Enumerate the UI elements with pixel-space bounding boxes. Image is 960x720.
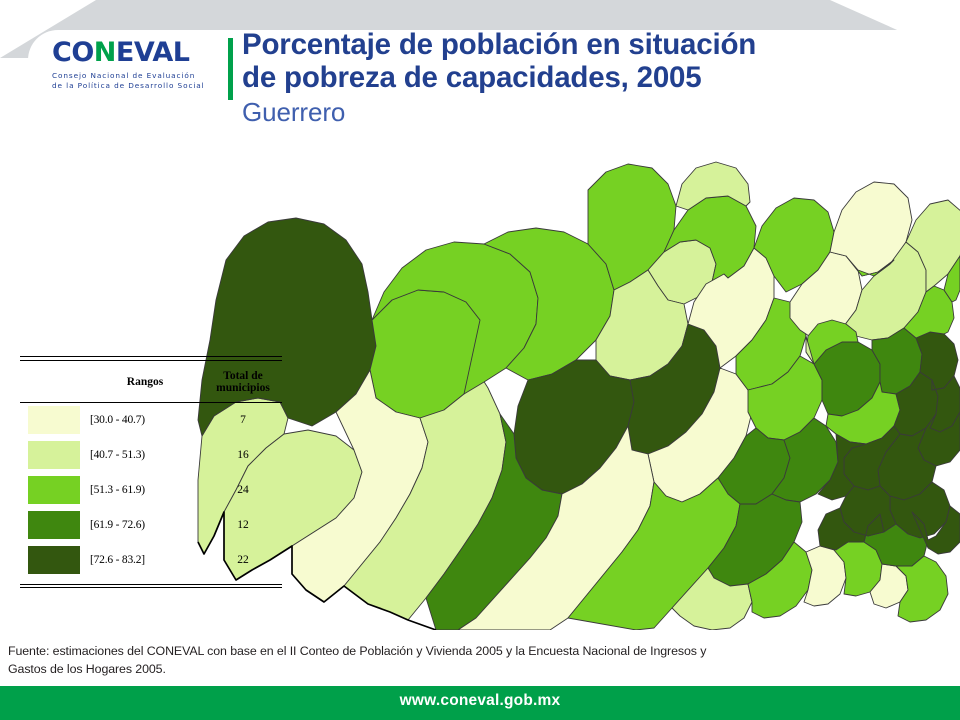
legend-table: Rangos Total de municipios [30.0 - 40.7)… <box>20 361 282 578</box>
legend-header-total-line2: municipios <box>204 382 282 395</box>
footer-url[interactable]: www.coneval.gob.mx <box>0 692 960 710</box>
title-line-2: de pobreza de capacidades, 2005 <box>242 61 942 94</box>
source-line-1: Fuente: estimaciones del CONEVAL con bas… <box>8 642 952 660</box>
legend-color-swatch <box>28 546 80 574</box>
legend-color-swatch <box>28 441 80 469</box>
legend-range-label: [61.9 - 72.6) <box>86 508 204 543</box>
legend-swatch-cell <box>20 543 86 578</box>
legend-body: [30.0 - 40.7)7[40.7 - 51.3)16[51.3 - 61.… <box>20 402 282 578</box>
legend-range-label: [72.6 - 83.2] <box>86 543 204 578</box>
legend-header-ranges: Rangos <box>86 361 204 402</box>
title-divider-rule <box>228 38 233 100</box>
legend-color-swatch <box>28 511 80 539</box>
legend-color-swatch <box>28 406 80 434</box>
legend-swatch-cell <box>20 508 86 543</box>
legend-header-total: Total de municipios <box>204 361 282 402</box>
legend-range-label: [40.7 - 51.3) <box>86 438 204 473</box>
legend-color-swatch <box>28 476 80 504</box>
title-subtitle-state: Guerrero <box>242 96 942 129</box>
legend-swatch-cell <box>20 402 86 438</box>
logo-text-post: EVAL <box>116 37 190 68</box>
legend-count-value: 12 <box>204 508 282 543</box>
legend-row: [61.9 - 72.6)12 <box>20 508 282 543</box>
legend-row: [72.6 - 83.2]22 <box>20 543 282 578</box>
legend-header-row: Rangos Total de municipios <box>20 361 282 402</box>
logo-text-pre: CO <box>52 37 94 68</box>
legend-count-value: 24 <box>204 473 282 508</box>
map-legend: Rangos Total de municipios [30.0 - 40.7)… <box>20 356 282 588</box>
municipality-shapes <box>198 162 960 630</box>
legend-count-value: 16 <box>204 438 282 473</box>
legend-row: [51.3 - 61.9)24 <box>20 473 282 508</box>
legend-row: [40.7 - 51.3)16 <box>20 438 282 473</box>
logo-subtitle-line1: Consejo Nacional de Evaluación <box>52 71 220 81</box>
page-title: Porcentaje de población en situación de … <box>242 28 942 129</box>
legend-row: [30.0 - 40.7)7 <box>20 402 282 438</box>
guerrero-choropleth-map <box>196 150 960 630</box>
logo-subtitle-line2: de la Política de Desarrollo Social <box>52 81 220 91</box>
legend-count-value: 7 <box>204 402 282 438</box>
legend-swatch-cell <box>20 473 86 508</box>
source-line-2: Gastos de los Hogares 2005. <box>8 660 952 678</box>
map-svg <box>196 150 960 630</box>
source-note: Fuente: estimaciones del CONEVAL con bas… <box>8 642 952 678</box>
legend-bottom-rule <box>20 584 282 589</box>
logo-text-n: N <box>94 37 116 68</box>
coneval-logo: CONEVAL Consejo Nacional de Evaluación d… <box>52 38 220 100</box>
legend-header-swatch <box>20 361 86 402</box>
legend-swatch-cell <box>20 438 86 473</box>
legend-range-label: [51.3 - 61.9) <box>86 473 204 508</box>
coneval-logo-wordmark: CONEVAL <box>52 38 220 68</box>
legend-range-label: [30.0 - 40.7) <box>86 402 204 438</box>
legend-header-total-line1: Total de <box>204 370 282 383</box>
legend-count-value: 22 <box>204 543 282 578</box>
coneval-logo-subtitle: Consejo Nacional de Evaluación de la Pol… <box>52 71 220 90</box>
title-line-1: Porcentaje de población en situación <box>242 28 942 61</box>
